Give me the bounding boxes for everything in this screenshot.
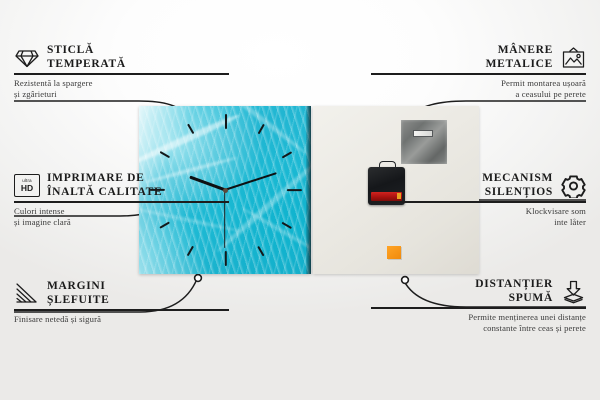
feature-divider [371,73,586,74]
metal-hanger-part [401,120,447,164]
feature-divider [14,73,229,74]
feature-divider [14,201,229,202]
infographic-canvas: STICLĂ TEMPERATĂ Rezistentă la spargere … [0,0,600,400]
ultra-hd-icon: ultra HD [14,174,40,198]
feature-title: MECANISM SILENȚIOS [482,172,553,199]
feature-title: MÂNERE METALICE [486,44,553,71]
feature-metal-handles: MÂNERE METALICE Permit montarea ușoară a… [371,44,586,100]
mechanism-loop [379,161,396,170]
feature-header: ultra HD IMPRIMARE DE ÎNALTĂ CALITATE [14,172,229,199]
feature-divider [371,307,586,308]
clock-tick [225,251,227,266]
clock-tick [282,151,292,158]
feature-title: STICLĂ TEMPERATĂ [47,44,126,71]
press-down-icon [560,280,586,304]
feature-header: MARGINI ȘLEFUITE [14,280,229,307]
clock-tick [258,124,265,134]
feature-description: Permite menținerea unei distanțe constan… [371,312,586,334]
feature-header: MECANISM SILENȚIOS [371,172,586,199]
hatched-edge-icon [14,282,40,306]
hanger-slot [413,130,433,137]
feature-description: Klockvisare som inte låter [371,206,586,228]
clock-minute-hand [225,172,277,191]
gear-icon [560,174,586,198]
diamond-icon [14,46,40,70]
feature-title: IMPRIMARE DE ÎNALTĂ CALITATE [47,172,162,199]
feature-tempered-glass: STICLĂ TEMPERATĂ Rezistentă la spargere … [14,44,229,100]
clock-tick [225,114,227,129]
feature-description: Permit montarea ușoară a ceasului pe per… [371,78,586,100]
feature-divider [371,201,586,202]
feature-foam-spacer: DISTANȚIER SPUMĂ Permite menținerea unei… [371,278,586,334]
clock-tick [187,246,194,256]
clock-tick [287,189,302,191]
feature-description: Culori intense și imagine clară [14,206,229,228]
feature-header: STICLĂ TEMPERATĂ [14,44,229,71]
feature-description: Rezistentă la spargere și zgârieturi [14,78,229,100]
ultra-hd-box: ultra HD [14,174,40,197]
feature-silent-mechanism: MECANISM SILENȚIOS Klockvisare som inte … [371,172,586,228]
feature-high-quality-print: ultra HD IMPRIMARE DE ÎNALTĂ CALITATE Cu… [14,172,229,228]
feature-divider [14,309,229,310]
foam-spacer-part [387,246,401,259]
feature-header: DISTANȚIER SPUMĂ [371,278,586,305]
picture-hanger-icon [560,46,586,70]
clock-tick [160,151,170,158]
feature-title: MARGINI ȘLEFUITE [47,280,109,307]
feature-polished-edges: MARGINI ȘLEFUITE Finisare netedă și sigu… [14,280,229,325]
clock-tick [282,222,292,229]
clock-tick [258,246,265,256]
feature-header: MÂNERE METALICE [371,44,586,71]
feature-title: DISTANȚIER SPUMĂ [475,278,553,305]
feature-description: Finisare netedă și sigură [14,314,229,325]
clock-tick [187,124,194,134]
